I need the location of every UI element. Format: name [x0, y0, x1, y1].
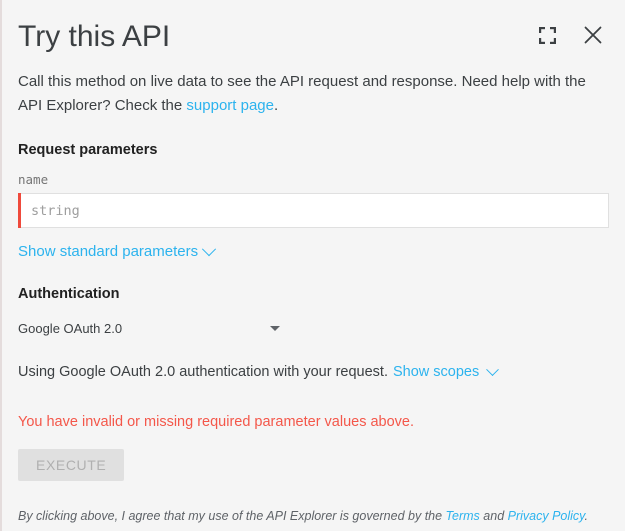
- dialog-body: Call this method on live data to see the…: [2, 70, 625, 525]
- privacy-policy-link[interactable]: Privacy Policy: [508, 509, 585, 523]
- execute-button[interactable]: EXECUTE: [18, 449, 124, 481]
- show-standard-parameters-toggle[interactable]: Show standard parameters: [18, 242, 214, 262]
- legal-text-before: By clicking above, I agree that my use o…: [18, 509, 446, 523]
- parameter-label-name: name: [18, 172, 609, 188]
- terms-link[interactable]: Terms: [446, 509, 480, 523]
- auth-method-select[interactable]: Google OAuth 2.0: [18, 318, 280, 340]
- support-page-link[interactable]: support page: [186, 97, 274, 114]
- page-title: Try this API: [18, 16, 535, 54]
- authentication-heading: Authentication: [18, 284, 609, 304]
- error-message: You have invalid or missing required par…: [18, 412, 609, 432]
- chevron-down-icon: [202, 242, 216, 256]
- intro-text-after: .: [274, 97, 278, 114]
- parameter-input-name[interactable]: [18, 194, 608, 227]
- legal-text-after: .: [585, 509, 588, 523]
- intro-text: Call this method on live data to see the…: [18, 70, 609, 118]
- chevron-down-icon: [486, 363, 499, 376]
- header-actions: [535, 23, 609, 47]
- dialog-header: Try this API: [2, 0, 625, 70]
- try-this-api-panel: Try this API Call this method: [0, 0, 625, 531]
- show-standard-parameters-label: Show standard parameters: [18, 242, 198, 262]
- dropdown-arrow-icon: [270, 326, 280, 331]
- auth-note: Using Google OAuth 2.0 authentication wi…: [18, 362, 609, 382]
- legal-footer: By clicking above, I agree that my use o…: [18, 507, 609, 525]
- fullscreen-icon[interactable]: [535, 23, 559, 47]
- intro-text-before: Call this method on live data to see the…: [18, 73, 586, 114]
- request-parameters-heading: Request parameters: [18, 140, 609, 160]
- close-icon[interactable]: [581, 23, 605, 47]
- parameter-input-wrapper: [18, 193, 609, 228]
- auth-method-value: Google OAuth 2.0: [18, 320, 122, 338]
- auth-note-text: Using Google OAuth 2.0 authentication wi…: [18, 362, 388, 382]
- show-scopes-link[interactable]: Show scopes: [393, 362, 479, 382]
- legal-text-between: and: [480, 509, 508, 523]
